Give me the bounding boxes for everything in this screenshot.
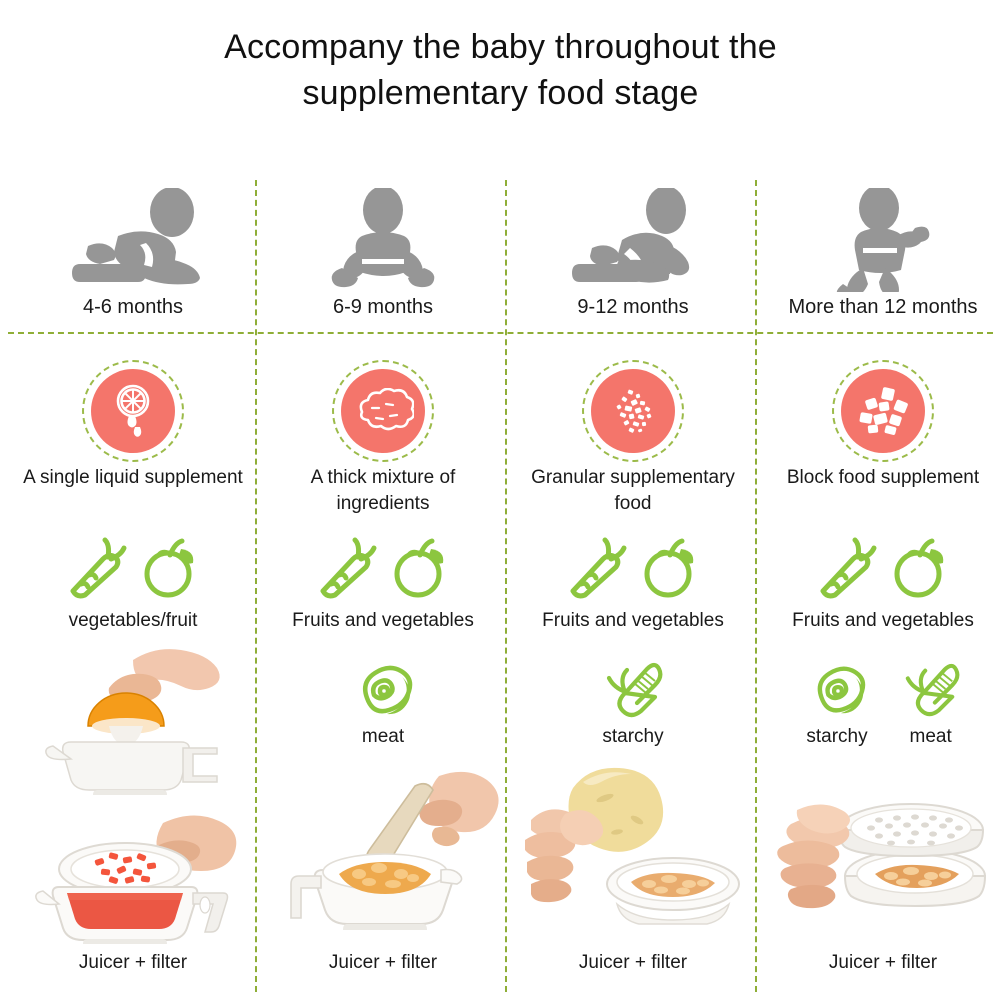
photo-group-1 [8,642,258,949]
stage-column-4: More than 12 months [758,180,1001,1001]
veg-label-3: Fruits and vegetables [508,610,758,632]
age-label-3: 9-12 months [508,296,758,319]
infographic-page: Accompany the baby throughout the supple… [0,0,1001,1001]
food-item: meat [902,658,960,748]
stage-icon-wrapper-1 [8,357,258,465]
stage-column-1: 4-6 months [8,180,258,1001]
veg-icons-2 [258,532,508,604]
stage-caption-3: Granular supplementary food [508,465,758,517]
baby-sitting-icon [258,180,508,292]
veg-label-4: Fruits and vegetables [758,610,1001,632]
carrot-icon [813,535,879,601]
stage-icon-wrapper-4 [758,357,1001,465]
stage-icon-wrapper-3 [508,357,758,465]
photo-group-3 [508,758,758,948]
stage-circle-1 [82,360,184,462]
page-title-line-2: supplementary food stage [0,70,1001,116]
hand-mashing-food-with-pestle-in-bowl-photo [258,758,508,948]
apple-icon [887,535,953,601]
meat-cut-icon [353,658,413,722]
apple-icon [137,535,203,601]
food-blocks-icon [841,369,925,453]
baby-creeping-icon [508,180,758,292]
food-item-label: meat [362,726,404,748]
granular-specks-icon [591,369,675,453]
citrus-slice-drip-icon [91,369,175,453]
corn-cob-icon [603,658,663,722]
baby-crawling-icon [8,180,258,292]
apple-icon [387,535,453,601]
toddler-walking-icon [758,180,1001,292]
stage-caption-4: Block food supplement [758,465,1001,491]
apple-icon [637,535,703,601]
food-row-3: starchy [508,658,758,766]
food-item: starchy [602,658,663,748]
bottom-label-4: Juicer + filter [758,952,1001,974]
veg-label-2: Fruits and vegetables [258,610,508,632]
meat-cut-icon [808,658,866,722]
food-row-4: starchy [758,658,1001,766]
stage-column-3: 9-12 months [508,180,758,1001]
carrot-icon [63,535,129,601]
photo-group-2 [258,758,508,948]
carrot-icon [313,535,379,601]
bottom-label-1: Juicer + filter [8,952,258,974]
page-title: Accompany the baby throughout the supple… [0,24,1001,116]
hand-lifting-strainer-over-red-juice-bowl-photo [8,801,258,949]
stage-caption-2: A thick mixture of ingredients [258,465,508,517]
age-label-4: More than 12 months [758,296,1001,319]
food-item-label: starchy [602,726,663,748]
photo-group-4 [758,758,1001,948]
veg-icons-1 [8,532,258,604]
food-item-label: starchy [806,726,867,748]
stage-circle-3 [582,360,684,462]
veg-icons-4 [758,532,1001,604]
stage-caption-1: A single liquid supplement [8,465,258,491]
stage-icon-wrapper-2 [258,357,508,465]
age-label-2: 6-9 months [258,296,508,319]
veg-label-1: vegetables/fruit [8,610,258,632]
veg-icons-3 [508,532,758,604]
food-item: meat [353,658,413,748]
age-label-1: 4-6 months [8,296,258,319]
stage-column-2: 6-9 months [258,180,508,1001]
hand-lifting-perforated-grater-lid-off-dish-photo [758,758,1001,948]
hand-juicing-orange-on-reamer-photo [8,642,258,797]
food-item: starchy [806,658,867,748]
hand-holding-peeled-potato-beside-dish-photo [508,758,758,948]
thick-mixture-blob-icon [341,369,425,453]
stage-circle-4 [832,360,934,462]
bottom-label-3: Juicer + filter [508,952,758,974]
stage-circle-2 [332,360,434,462]
corn-cob-icon [902,658,960,722]
food-item-label: meat [910,726,952,748]
carrot-icon [563,535,629,601]
page-title-line-1: Accompany the baby throughout the [0,24,1001,70]
bottom-label-2: Juicer + filter [258,952,508,974]
food-row-2: meat [258,658,508,766]
